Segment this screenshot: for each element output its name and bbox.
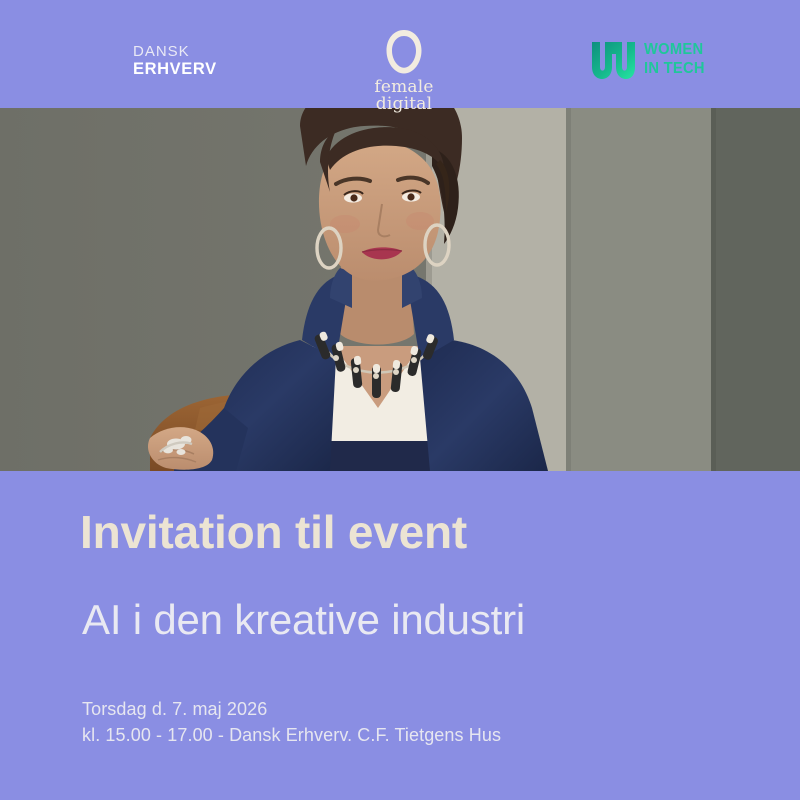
page-subtitle: AI i den kreative industri [82, 598, 525, 642]
logo-female-digital: female digital [358, 28, 450, 114]
hero-photo-illustration [0, 108, 800, 471]
logo-women-in-tech-line1: WOMEN [644, 42, 705, 58]
event-invitation-poster: DANSK ERHVERV female digital [0, 0, 800, 800]
logo-women-in-tech: WOMEN IN TECH [590, 38, 710, 80]
logo-dansk-erhverv-line2: ERHVERV [133, 61, 217, 78]
logo-female-digital-line2: digital [358, 96, 450, 113]
egg-ring-icon [383, 28, 425, 76]
logo-female-digital-wordmark: female digital [358, 79, 450, 114]
w-monogram-icon [590, 38, 636, 80]
page-title: Invitation til event [80, 508, 467, 556]
logo-women-in-tech-wordmark: WOMEN IN TECH [644, 42, 710, 77]
logo-bar: DANSK ERHVERV female digital [0, 0, 800, 108]
logo-women-in-tech-line2: IN TECH [644, 61, 705, 77]
event-date: Torsdag d. 7. maj 2026 [82, 696, 501, 722]
event-time-and-venue: kl. 15.00 - 17.00 - Dansk Erhverv. C.F. … [82, 722, 501, 748]
event-details: Torsdag d. 7. maj 2026 kl. 15.00 - 17.00… [82, 696, 501, 748]
hero-photo [0, 108, 800, 471]
logo-dansk-erhverv-line1: DANSK [133, 44, 217, 59]
logo-dansk-erhverv: DANSK ERHVERV [133, 44, 217, 78]
